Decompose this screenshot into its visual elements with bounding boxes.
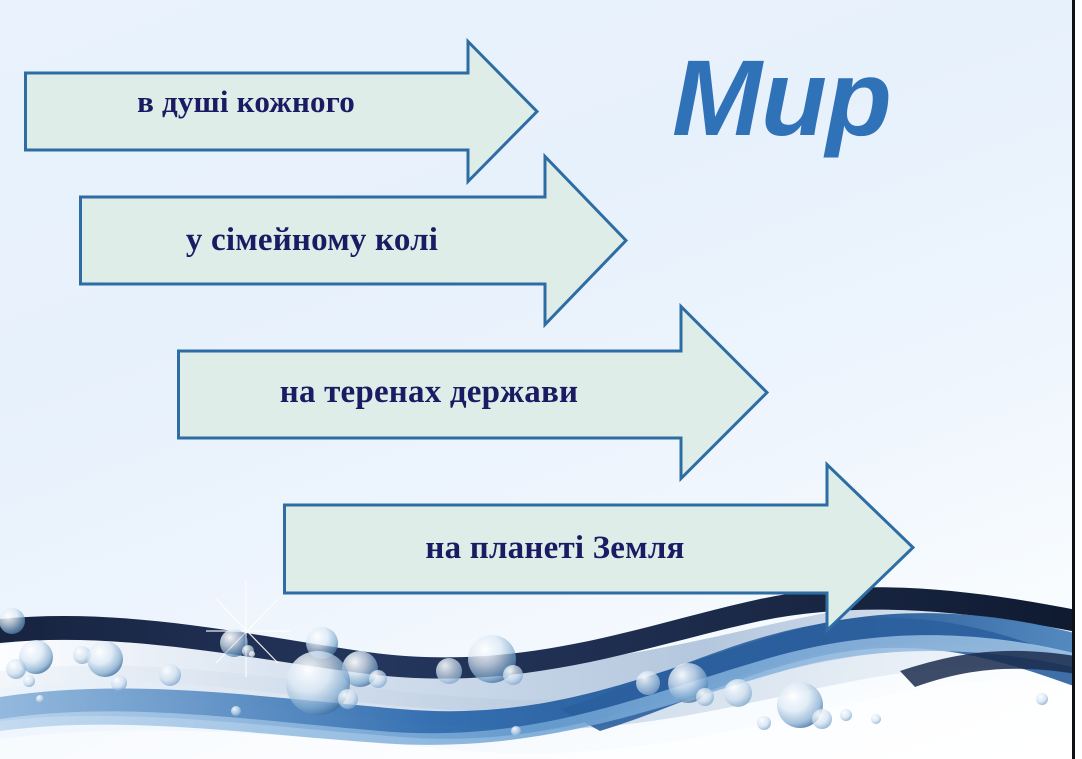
arrow-label-4: на планеті Земля (283, 532, 827, 565)
arrow-label-1: в душі кожного (24, 86, 468, 117)
arrow-label-2: у сімейному колі (79, 224, 545, 257)
arrow-shape-2[interactable]: у сімейному колі (79, 155, 628, 327)
page-title: Мир (672, 44, 891, 152)
arrow-shape-4[interactable]: на планеті Земля (283, 463, 915, 633)
right-edge-padding (1075, 0, 1082, 759)
arrow-label-3: на теренах держави (177, 376, 681, 409)
slide-canvas: Мир в душі кожного у сімейному колі на т… (0, 0, 1082, 759)
arrow-shape-3[interactable]: на теренах держави (177, 305, 769, 480)
